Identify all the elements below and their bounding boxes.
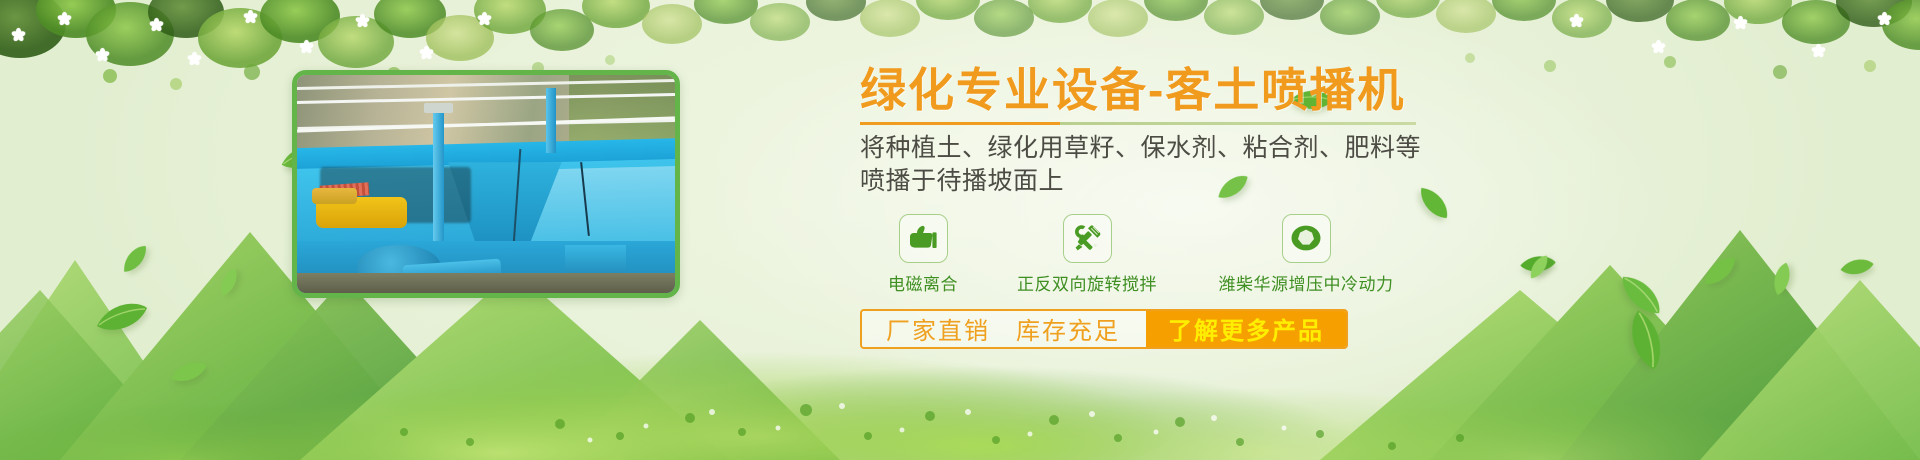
page-title: 绿化专业设备-客土喷播机 (860, 66, 1580, 116)
photo-vertical-post-secondary (546, 88, 556, 153)
floating-leaf-icon (1697, 252, 1743, 290)
cta-slogan-factory-direct: 厂家直销 (886, 311, 990, 346)
blossom-icon (188, 52, 201, 65)
feature-label: 潍柴华源增压中冷动力 (1188, 270, 1424, 295)
photo-vertical-post (433, 110, 444, 250)
gear-icon (1290, 223, 1322, 253)
feature-item-clutch[interactable]: 电磁离合 (860, 214, 986, 295)
title-divider (860, 122, 1416, 125)
thumbs-up-icon (908, 225, 938, 251)
subtitle-line-2: 喷播于待播坡面上 (860, 165, 1580, 198)
blossom-icon (1734, 16, 1747, 29)
blossom-icon (356, 14, 369, 27)
banner-content: 绿化专业设备-客土喷播机 将种植土、绿化用草籽、保水剂、粘合剂、肥料等 喷播于待… (860, 66, 1580, 349)
cta-slogan-in-stock: 库存充足 (1016, 311, 1120, 346)
feature-label: 正反双向旋转搅拌 (986, 270, 1188, 295)
floating-leaf-icon (170, 360, 208, 384)
floating-leaf-icon (211, 264, 246, 299)
feature-item-engine[interactable]: 潍柴华源增压中冷动力 (1188, 214, 1424, 295)
photo-ground (297, 273, 675, 293)
blossom-icon (58, 12, 71, 25)
subtitle-line-1: 将种植土、绿化用草籽、保水剂、粘合剂、肥料等 (860, 132, 1580, 165)
feature-icon-box (1063, 214, 1112, 263)
feature-item-mixing[interactable]: 正反双向旋转搅拌 (986, 214, 1188, 295)
blossom-icon (420, 46, 433, 59)
learn-more-button[interactable]: 了解更多产品 (1146, 311, 1346, 347)
cta-bar: 厂家直销 库存充足 了解更多产品 (860, 309, 1348, 349)
cta-slogan-group: 厂家直销 库存充足 (862, 311, 1146, 347)
feature-icon-box (899, 214, 948, 263)
floating-leaf-icon (1615, 264, 1668, 325)
floating-leaf-icon (95, 300, 149, 334)
blossom-icon (300, 40, 313, 53)
blossom-icon (150, 18, 163, 31)
blossom-icon (1812, 44, 1825, 57)
product-photo (297, 75, 675, 293)
floating-leaf-icon (1763, 259, 1801, 299)
promo-banner: 绿化专业设备-客土喷播机 将种植土、绿化用草籽、保水剂、粘合剂、肥料等 喷播于待… (0, 0, 1920, 460)
blossom-icon (478, 12, 491, 25)
photo-yellow-cylinder-cap (312, 188, 357, 203)
blossom-icon (1570, 14, 1583, 27)
floating-leaf-icon (1623, 307, 1668, 372)
blossom-icon (96, 48, 109, 61)
floating-leaf-icon (115, 241, 155, 277)
feature-icon-box (1282, 214, 1331, 263)
blossom-icon (12, 28, 25, 41)
feature-list: 电磁离合 (860, 214, 1580, 295)
feature-label: 电磁离合 (860, 270, 986, 295)
blossom-icon (1878, 12, 1891, 25)
product-photo-frame[interactable] (292, 70, 680, 298)
blossom-icon (1652, 40, 1665, 53)
photo-background-wall (297, 75, 675, 149)
floating-leaf-icon (1838, 253, 1875, 281)
wrench-screwdriver-icon (1072, 223, 1102, 253)
blossom-icon (244, 10, 257, 23)
